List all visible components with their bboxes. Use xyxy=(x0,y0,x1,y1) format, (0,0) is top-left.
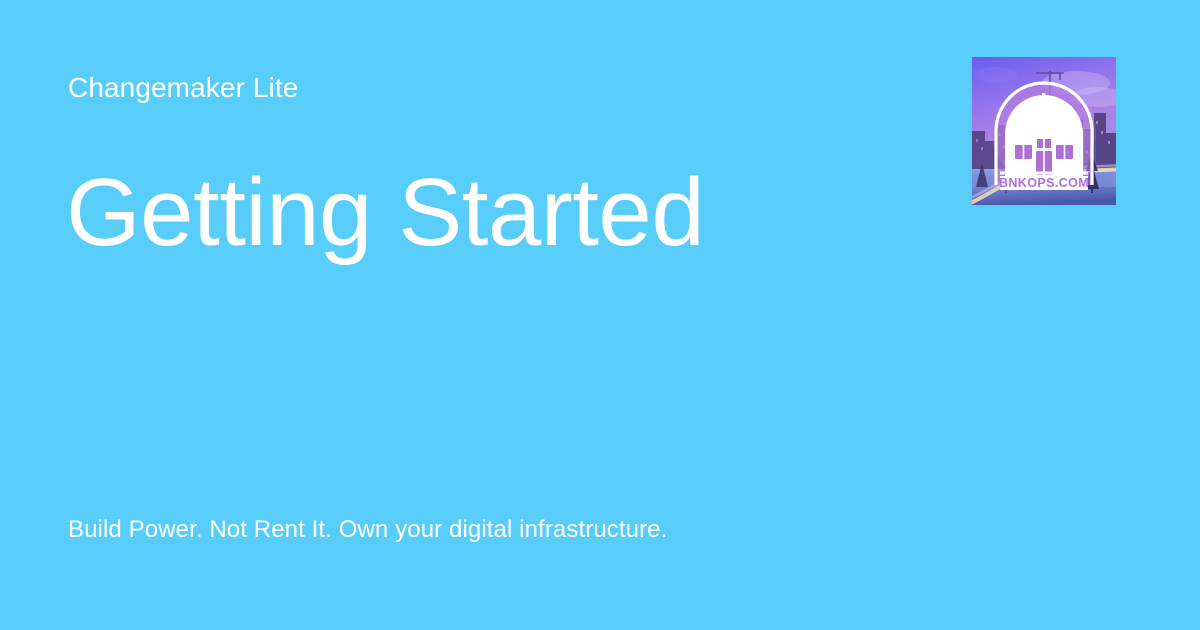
logo-photo-background: BNKOPS.COM xyxy=(972,57,1116,205)
social-share-card: Changemaker Lite Getting Started Build P… xyxy=(0,0,1200,630)
tagline-text: Build Power. Not Rent It. Own your digit… xyxy=(68,514,667,545)
dome-emblem: BNKOPS.COM xyxy=(996,83,1092,190)
page-title: Getting Started xyxy=(66,160,704,266)
bnkops-logo: BNKOPS.COM xyxy=(972,57,1116,205)
eyebrow-label: Changemaker Lite xyxy=(68,71,298,105)
logo-wordmark: BNKOPS.COM xyxy=(999,176,1089,190)
